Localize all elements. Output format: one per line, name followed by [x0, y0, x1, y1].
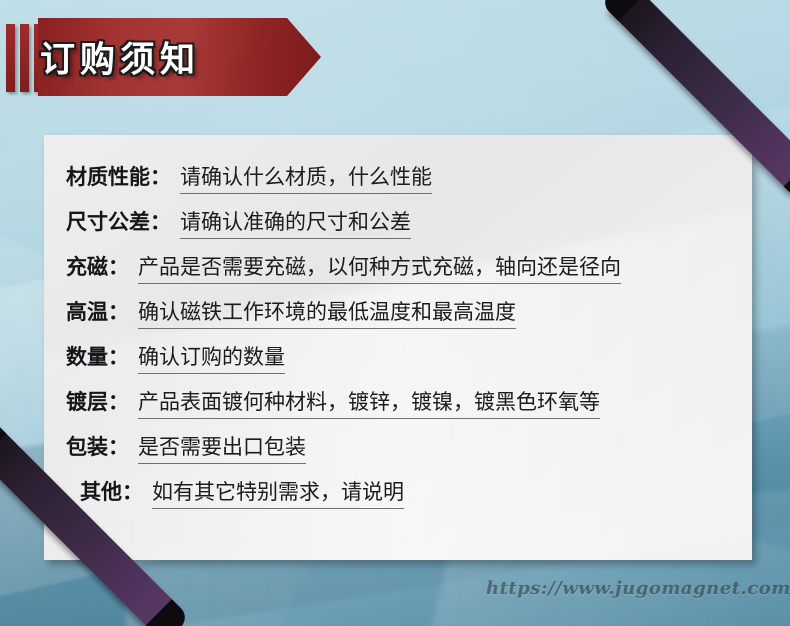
header-bar-2: [20, 24, 29, 92]
content-card: 材质性能： 请确认什么材质，什么性能 尺寸公差： 请确认准确的尺寸和公差 充磁：…: [44, 135, 752, 560]
list-item: 其他： 如有其它特别需求，请说明: [66, 476, 742, 521]
list-item-label: 高温：: [66, 296, 129, 326]
list-item-value: 产品表面镀何种材料，镀锌，镀镍，镀黑色环氧等: [138, 386, 600, 419]
list-item: 充磁： 产品是否需要充磁，以何种方式充磁，轴向还是径向: [66, 251, 742, 296]
list-item-label: 尺寸公差：: [66, 206, 171, 236]
list-item: 高温： 确认磁铁工作环境的最低温度和最高温度: [66, 296, 742, 341]
list-item-value: 确认订购的数量: [138, 341, 285, 374]
list-item: 材质性能： 请确认什么材质，什么性能: [66, 161, 742, 206]
watermark-url: https://www.jugomagnet.com/: [486, 578, 790, 599]
list-item-label: 镀层：: [66, 386, 129, 416]
poster-canvas: 订购须知 材质性能： 请确认什么材质，什么性能 尺寸公差： 请确认准确的尺寸和公…: [0, 0, 790, 626]
list-item: 数量： 确认订购的数量: [66, 341, 742, 386]
list-item-value: 如有其它特别需求，请说明: [152, 476, 404, 509]
list-item-value: 确认磁铁工作环境的最低温度和最高温度: [138, 296, 516, 329]
list-item-value: 产品是否需要充磁，以何种方式充磁，轴向还是径向: [138, 251, 621, 284]
header-banner: 订购须知: [0, 18, 350, 96]
list-item: 尺寸公差： 请确认准确的尺寸和公差: [66, 206, 742, 251]
list-item-label: 数量：: [66, 341, 129, 371]
list-item: 包装： 是否需要出口包装: [66, 431, 742, 476]
list-item-label: 其他：: [80, 476, 143, 506]
list-item: 镀层： 产品表面镀何种材料，镀锌，镀镍，镀黑色环氧等: [66, 386, 742, 431]
list-item-value: 是否需要出口包装: [138, 431, 306, 464]
list-item-value: 请确认准确的尺寸和公差: [180, 206, 411, 239]
list-item-label: 包装：: [66, 431, 129, 461]
list-item-value: 请确认什么材质，什么性能: [180, 161, 432, 194]
list-item-label: 充磁：: [66, 251, 129, 281]
list-item-label: 材质性能：: [66, 161, 171, 191]
page-title: 订购须知: [40, 32, 200, 83]
header-bar-1: [6, 24, 15, 92]
requirement-list: 材质性能： 请确认什么材质，什么性能 尺寸公差： 请确认准确的尺寸和公差 充磁：…: [66, 161, 742, 521]
